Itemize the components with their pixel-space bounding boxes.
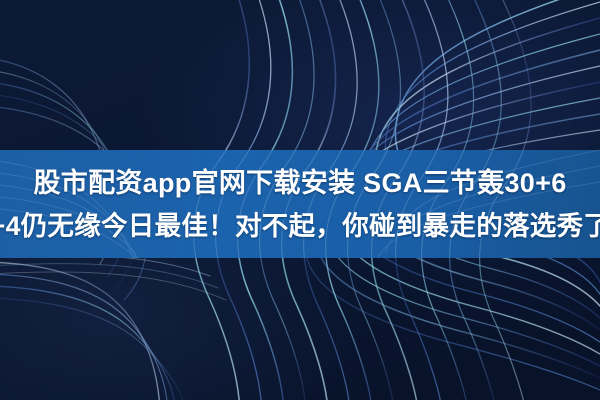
headline-line-1: 股市配资app官网下载安装 SGA三节轰30+6 [33, 162, 566, 204]
headline-line-2: +4仍无缘今日最佳！对不起，你碰到暴走的落选秀了 [0, 205, 600, 247]
headline-text-block: 股市配资app官网下载安装 SGA三节轰30+6 +4仍无缘今日最佳！对不起，你… [0, 150, 600, 258]
banner-image: 股市配资app官网下载安装 SGA三节轰30+6 +4仍无缘今日最佳！对不起，你… [0, 0, 600, 400]
